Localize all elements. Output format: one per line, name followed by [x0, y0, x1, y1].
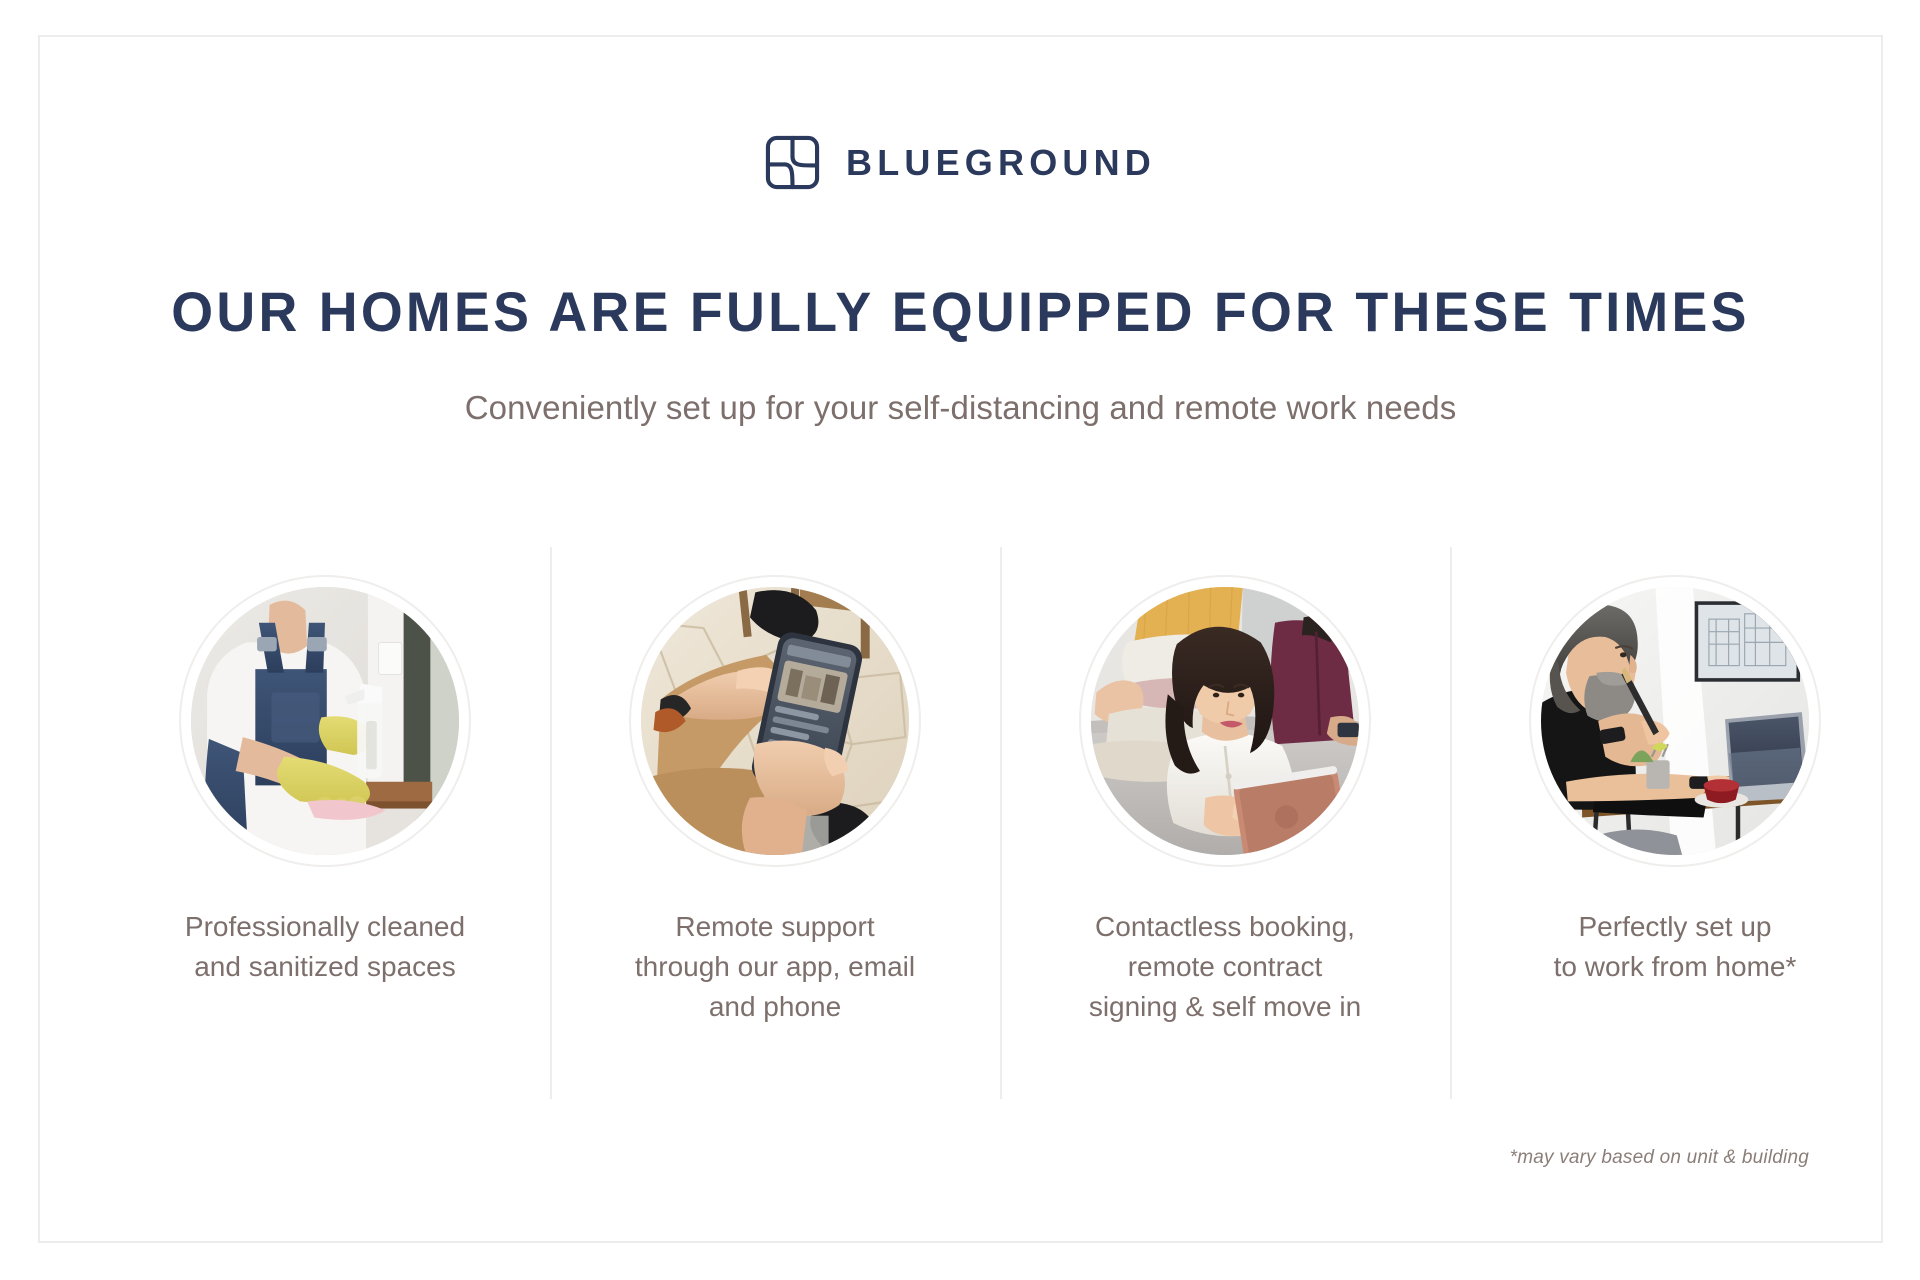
tablet-booking-photo	[1091, 587, 1359, 855]
blueground-square-mark-icon	[765, 135, 820, 190]
feature-item: Contactless booking, remote contract sig…	[1000, 547, 1450, 1099]
work-from-home-photo	[1541, 587, 1809, 855]
page-title: OUR HOMES ARE FULLY EQUIPPED FOR THESE T…	[77, 282, 1844, 342]
feature-caption: Contactless booking, remote contract sig…	[1060, 907, 1390, 1026]
cleaning-person-photo	[191, 587, 459, 855]
page-subtitle: Conveniently set up for your self-distan…	[40, 387, 1881, 430]
brand-wordmark: BLUEGROUND	[846, 145, 1156, 181]
smartphone-support-photo	[641, 587, 909, 855]
photo-ring	[1529, 575, 1821, 867]
photo-ring	[179, 575, 471, 867]
feature-item: Remote support through our app, email an…	[550, 547, 1000, 1099]
feature-item: Professionally cleaned and sanitized spa…	[100, 547, 550, 1099]
photo-ring	[629, 575, 921, 867]
content-frame: BLUEGROUND OUR HOMES ARE FULLY EQUIPPED …	[38, 35, 1883, 1243]
feature-caption: Perfectly set up to work from home*	[1510, 907, 1840, 987]
footnote-disclaimer: *may vary based on unit & building	[1510, 1147, 1809, 1169]
feature-item: Perfectly set up to work from home*	[1450, 547, 1900, 1099]
brand-lockup: BLUEGROUND	[40, 135, 1881, 190]
photo-ring	[1079, 575, 1371, 867]
feature-caption: Remote support through our app, email an…	[610, 907, 940, 1026]
infographic-page: BLUEGROUND OUR HOMES ARE FULLY EQUIPPED …	[0, 0, 1920, 1280]
feature-columns: Professionally cleaned and sanitized spa…	[100, 547, 1900, 1099]
feature-caption: Professionally cleaned and sanitized spa…	[160, 907, 490, 987]
